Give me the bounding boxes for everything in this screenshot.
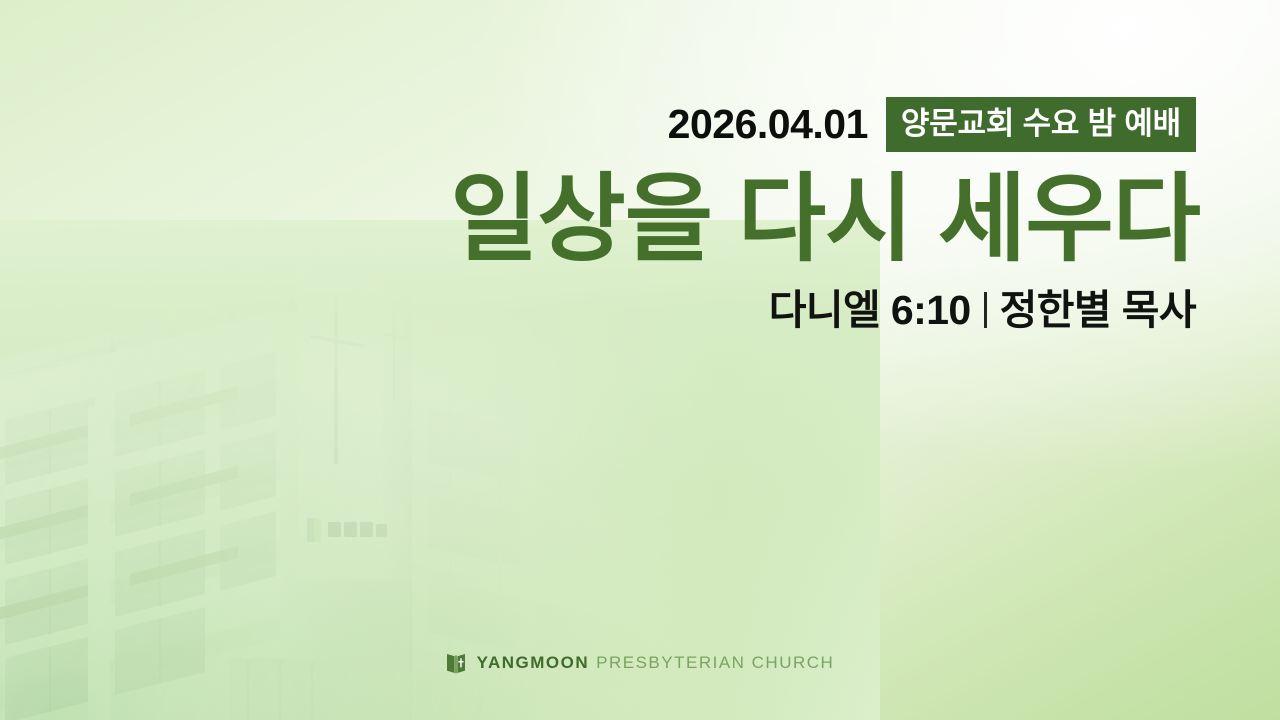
sermon-title: 일상을 다시 세우다	[450, 166, 1200, 274]
brand-name-light: PRESBYTERIAN CHURCH	[596, 653, 834, 673]
sermon-subtitle: 다니엘 6:10 정한별 목사	[769, 290, 1196, 331]
brand-wordmark: YANGMOON PRESBYTERIAN CHURCH	[477, 653, 835, 673]
meta-row: 2026.04.01 양문교회 수요 밤 예배	[668, 97, 1196, 152]
slide-canvas: 2026.04.01 양문교회 수요 밤 예배 일상을 다시 세우다 다니엘 6…	[0, 0, 1280, 720]
brand-name-bold: YANGMOON	[477, 653, 589, 673]
open-bible-cross-icon	[446, 652, 466, 674]
speaker-name: 정한별 목사	[1000, 290, 1196, 331]
service-badge: 양문교회 수요 밤 예배	[886, 97, 1196, 152]
footer-brand: YANGMOON PRESBYTERIAN CHURCH	[0, 652, 1280, 674]
scripture-reference: 다니엘 6:10	[769, 290, 971, 331]
slide-content: 2026.04.01 양문교회 수요 밤 예배 일상을 다시 세우다 다니엘 6…	[0, 0, 1280, 720]
subtitle-separator	[984, 292, 987, 328]
service-date: 2026.04.01	[668, 104, 868, 145]
